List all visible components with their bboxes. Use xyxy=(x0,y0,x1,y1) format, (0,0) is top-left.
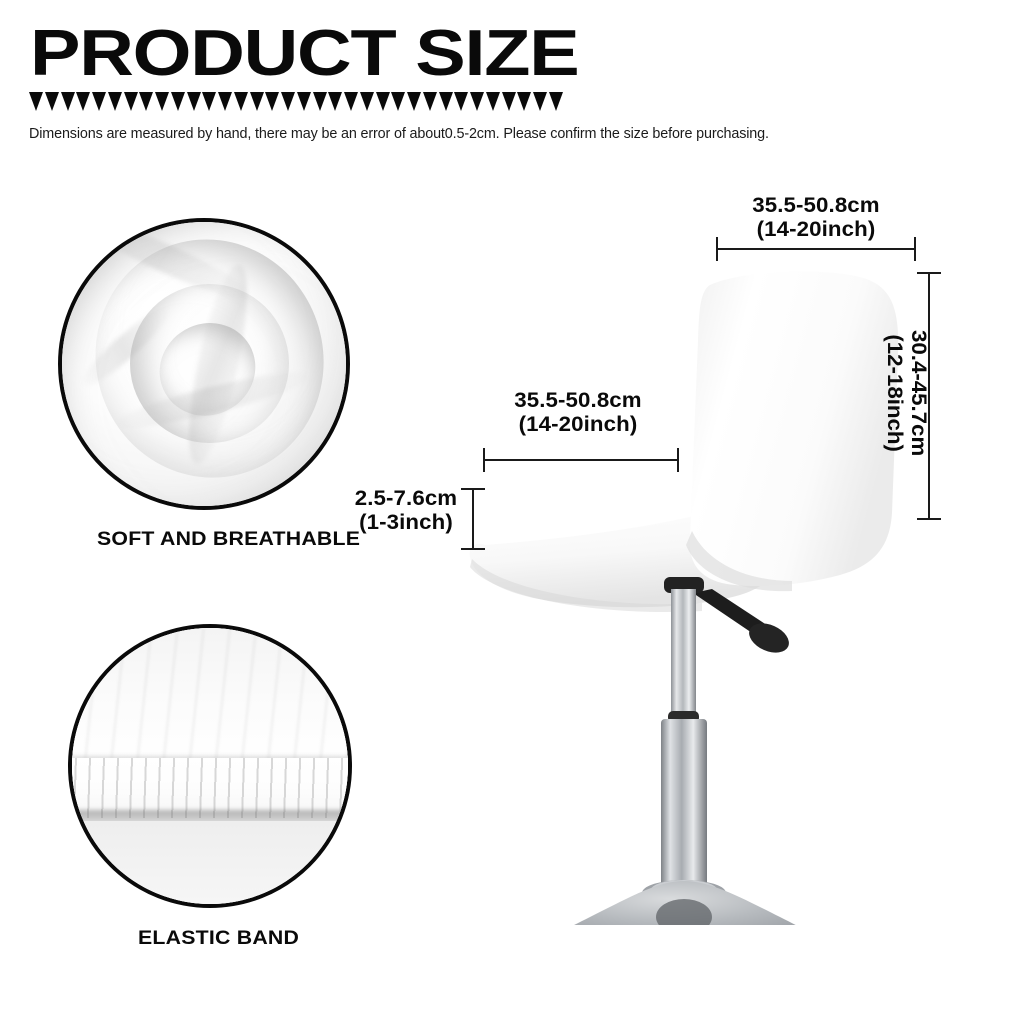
triangle-marker xyxy=(281,92,295,111)
triangle-marker xyxy=(45,92,59,111)
feature-inset-fabric xyxy=(58,218,350,510)
triangle-marker xyxy=(439,92,453,111)
dim-label-back-height: 30.4-45.7cm (12-18inch) xyxy=(882,330,930,456)
elastic-band-photo xyxy=(72,628,348,904)
chair-backrest xyxy=(690,271,898,586)
triangle-marker xyxy=(234,92,248,111)
triangle-marker xyxy=(297,92,311,111)
triangle-marker xyxy=(313,92,327,111)
dim-label-seat-thickness: 2.5-7.6cm (1-3inch) xyxy=(342,487,469,534)
triangle-marker xyxy=(391,92,405,111)
triangle-marker xyxy=(517,92,531,111)
triangle-marker xyxy=(549,92,563,111)
measurement-disclaimer: Dimensions are measured by hand, there m… xyxy=(29,124,769,144)
triangle-marker xyxy=(108,92,122,111)
triangle-marker xyxy=(155,92,169,111)
triangle-divider xyxy=(29,92,563,112)
triangle-marker xyxy=(171,92,185,111)
triangle-marker xyxy=(139,92,153,111)
triangle-marker xyxy=(360,92,374,111)
dim-rule-back-height xyxy=(928,272,930,520)
feature-caption-elastic-band: ELASTIC BAND xyxy=(138,928,299,950)
dim-label-back-width: 35.5-50.8cm (14-20inch) xyxy=(693,194,939,241)
triangle-marker xyxy=(470,92,484,111)
fabric-swirl-photo xyxy=(62,222,346,506)
triangle-marker xyxy=(124,92,138,111)
dim-label-seat-depth: 35.5-50.8cm (14-20inch) xyxy=(466,389,691,436)
triangle-marker xyxy=(423,92,437,111)
product-size-infographic: PRODUCT SIZE Dimensions are measured by … xyxy=(0,0,1024,1024)
triangle-marker xyxy=(407,92,421,111)
triangle-marker xyxy=(250,92,264,111)
dim-rule-seat-thickness xyxy=(472,488,474,550)
chair-column xyxy=(661,719,707,889)
feature-caption-soft-breathable: SOFT AND BREATHABLE xyxy=(97,529,360,551)
triangle-marker xyxy=(92,92,106,111)
triangle-marker xyxy=(486,92,500,111)
triangle-marker xyxy=(328,92,342,111)
triangle-marker xyxy=(187,92,201,111)
feature-inset-elastic xyxy=(68,624,352,908)
triangle-marker xyxy=(29,92,43,111)
dim-rule-back-width xyxy=(716,248,916,250)
triangle-marker xyxy=(76,92,90,111)
triangle-marker xyxy=(344,92,358,111)
chair-piston xyxy=(671,589,696,717)
triangle-marker xyxy=(218,92,232,111)
triangle-marker xyxy=(61,92,75,111)
dim-rule-seat-depth xyxy=(483,459,679,461)
page-title: PRODUCT SIZE xyxy=(30,22,579,86)
triangle-marker xyxy=(533,92,547,111)
triangle-marker xyxy=(502,92,516,111)
triangle-marker xyxy=(376,92,390,111)
triangle-marker xyxy=(202,92,216,111)
triangle-marker xyxy=(265,92,279,111)
triangle-marker xyxy=(454,92,468,111)
